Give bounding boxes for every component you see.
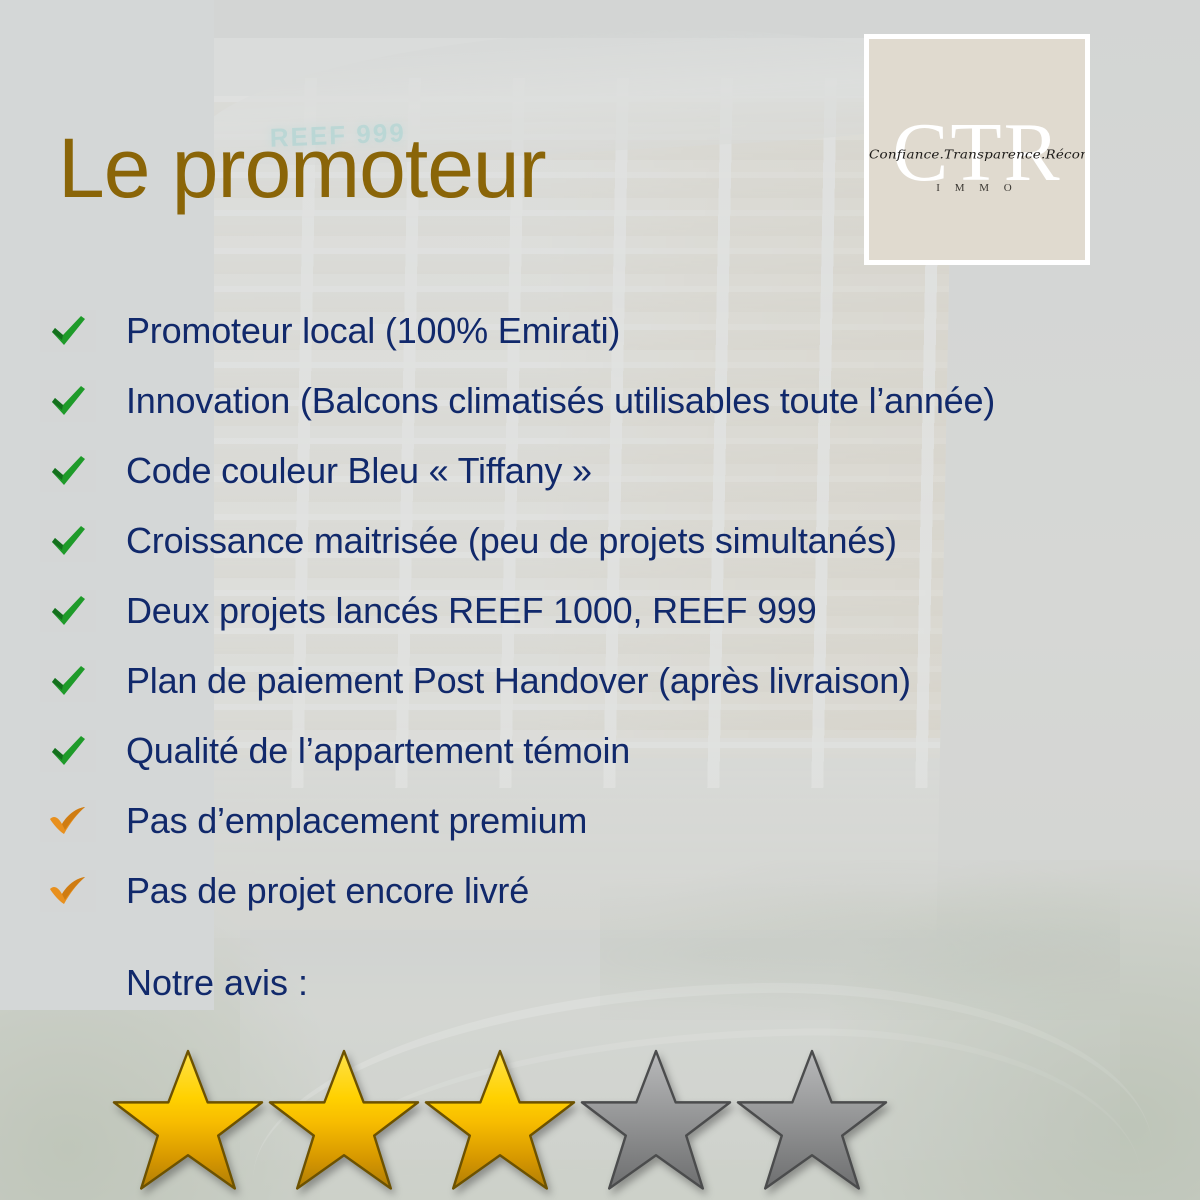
check-green-icon <box>40 380 96 422</box>
check-green-icon <box>40 730 96 772</box>
star-empty-4 <box>580 1048 732 1193</box>
list-item: Qualité de l’appartement témoin <box>0 716 1200 786</box>
promoter-slide: REEF 999 CTR Confiance.Transparence.Réco… <box>0 0 1200 1200</box>
list-item-label: Qualité de l’appartement témoin <box>126 730 630 772</box>
star-filled-3 <box>424 1048 576 1193</box>
list-item: Pas de projet encore livré <box>0 856 1200 926</box>
list-item-label: Croissance maitrisée (peu de projets sim… <box>126 520 897 562</box>
list-item-label: Plan de paiement Post Handover (après li… <box>126 660 911 702</box>
list-item: Plan de paiement Post Handover (après li… <box>0 646 1200 716</box>
check-green-icon <box>40 660 96 702</box>
feature-list: Promoteur local (100% Emirati) Innovatio… <box>0 296 1200 926</box>
list-item-label: Deux projets lancés REEF 1000, REEF 999 <box>126 590 817 632</box>
list-item: Innovation (Balcons climatisés utilisabl… <box>0 366 1200 436</box>
verdict-label: Notre avis : <box>126 962 308 1004</box>
list-item-label: Code couleur Bleu « Tiffany » <box>126 450 592 492</box>
check-green-icon <box>40 450 96 492</box>
star-filled-1 <box>112 1048 264 1193</box>
list-item: Promoteur local (100% Emirati) <box>0 296 1200 366</box>
list-item: Croissance maitrisée (peu de projets sim… <box>0 506 1200 576</box>
list-item: Code couleur Bleu « Tiffany » <box>0 436 1200 506</box>
check-green-icon <box>40 310 96 352</box>
list-item-label: Pas d’emplacement premium <box>126 800 587 842</box>
logo-inner-panel: CTR Confiance.Transparence.Récompense I … <box>869 39 1085 260</box>
check-orange-icon <box>40 870 96 912</box>
logo-subtitle: I M M O <box>869 182 1085 194</box>
rating-stars <box>112 1048 888 1193</box>
check-green-icon <box>40 520 96 562</box>
list-item-label: Innovation (Balcons climatisés utilisabl… <box>126 380 995 422</box>
check-orange-icon <box>40 800 96 842</box>
list-item: Pas d’emplacement premium <box>0 786 1200 856</box>
logo-tagline: Confiance.Transparence.Récompense <box>869 148 1085 163</box>
star-filled-2 <box>268 1048 420 1193</box>
star-empty-5 <box>736 1048 888 1193</box>
list-item-label: Promoteur local (100% Emirati) <box>126 310 620 352</box>
check-green-icon <box>40 590 96 632</box>
page-title: Le promoteur <box>58 126 546 210</box>
ctr-immo-logo: CTR Confiance.Transparence.Récompense I … <box>864 34 1090 265</box>
list-item: Deux projets lancés REEF 1000, REEF 999 <box>0 576 1200 646</box>
list-item-label: Pas de projet encore livré <box>126 870 529 912</box>
